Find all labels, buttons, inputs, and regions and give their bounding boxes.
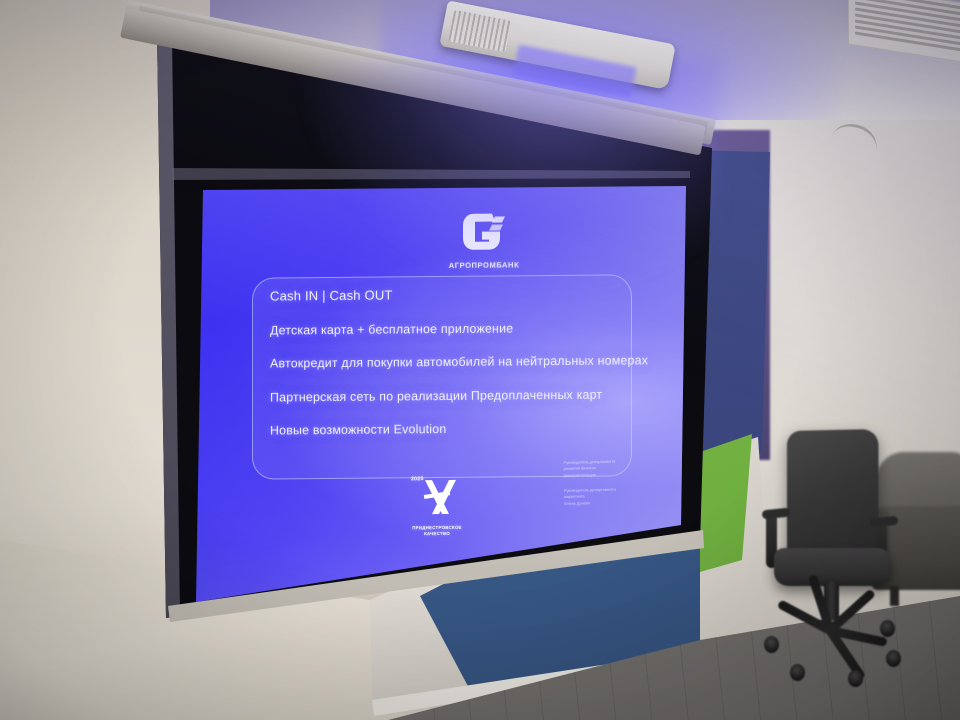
chair-caster	[790, 664, 805, 681]
chair-caster	[880, 620, 895, 637]
projector-vent-grille	[448, 10, 511, 52]
chair-base-star	[768, 610, 900, 676]
chair-caster	[886, 650, 901, 667]
chair-seat	[774, 548, 890, 586]
chair-caster	[764, 636, 779, 653]
conference-room-photo: АГРОПРОМБАНК Cash IN | Cash OUT Детская …	[0, 0, 960, 720]
chair-backrest	[787, 429, 879, 559]
chair-caster	[848, 670, 863, 687]
office-chair[interactable]	[752, 430, 917, 695]
